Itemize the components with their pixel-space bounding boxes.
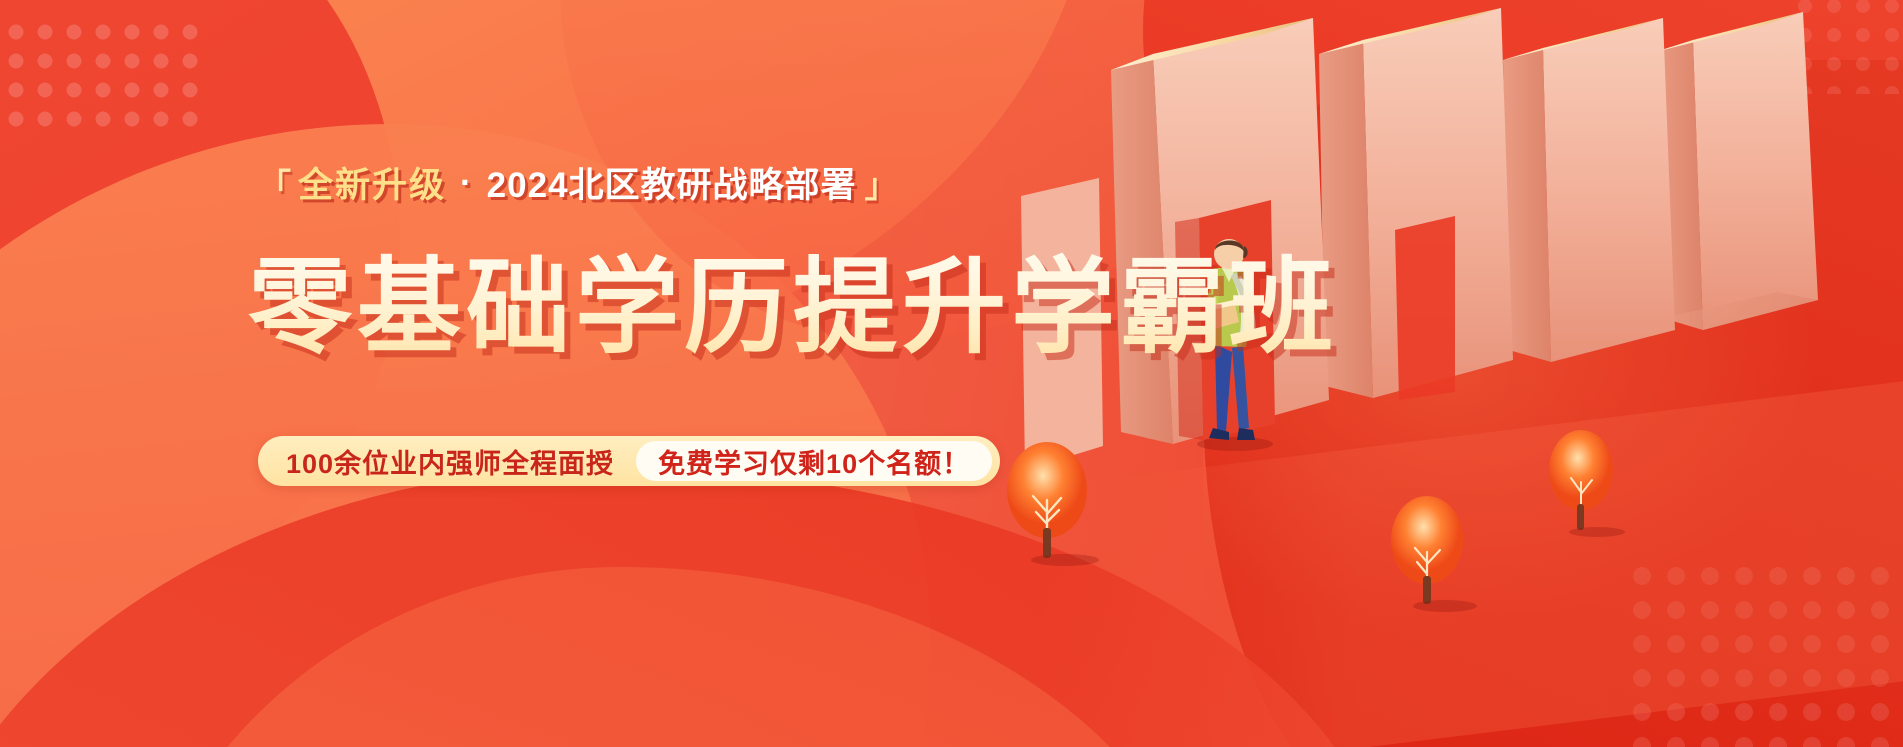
- pill-teachers-label: 100余位业内强师全程面授: [286, 442, 636, 481]
- banner-headline: 零基础学历提升学霸班: [248, 222, 1338, 373]
- illustration-books-and-student: [1003, 0, 1903, 747]
- book-arch-3: [1503, 18, 1675, 362]
- pill-free-slots-badge[interactable]: 免费学习仅剩10个名额！: [636, 441, 992, 481]
- tree-middle: [1391, 496, 1477, 612]
- offer-pill-row: 100余位业内强师全程面授 免费学习仅剩10个名额！: [258, 436, 1000, 486]
- subtitle-gold-text: 全新升级: [298, 157, 446, 208]
- bracket-left: 「: [258, 159, 292, 207]
- copy-block: 「 全新升级 · 2024北区教研战略部署 」 零基础学历提升学霸班 100余位…: [0, 0, 1080, 747]
- banner-subtitle: 「 全新升级 · 2024北区教研战略部署 」: [258, 157, 899, 208]
- bracket-right: 」: [865, 159, 899, 207]
- book-arch-4: [1655, 12, 1818, 330]
- promo-banner: 「 全新升级 · 2024北区教研战略部署 」 零基础学历提升学霸班 100余位…: [0, 0, 1903, 747]
- book-arch-2: [1319, 8, 1513, 400]
- subtitle-white-text: 2024北区教研战略部署: [487, 157, 857, 208]
- subtitle-separator: ·: [460, 163, 473, 203]
- tree-right: [1549, 430, 1625, 537]
